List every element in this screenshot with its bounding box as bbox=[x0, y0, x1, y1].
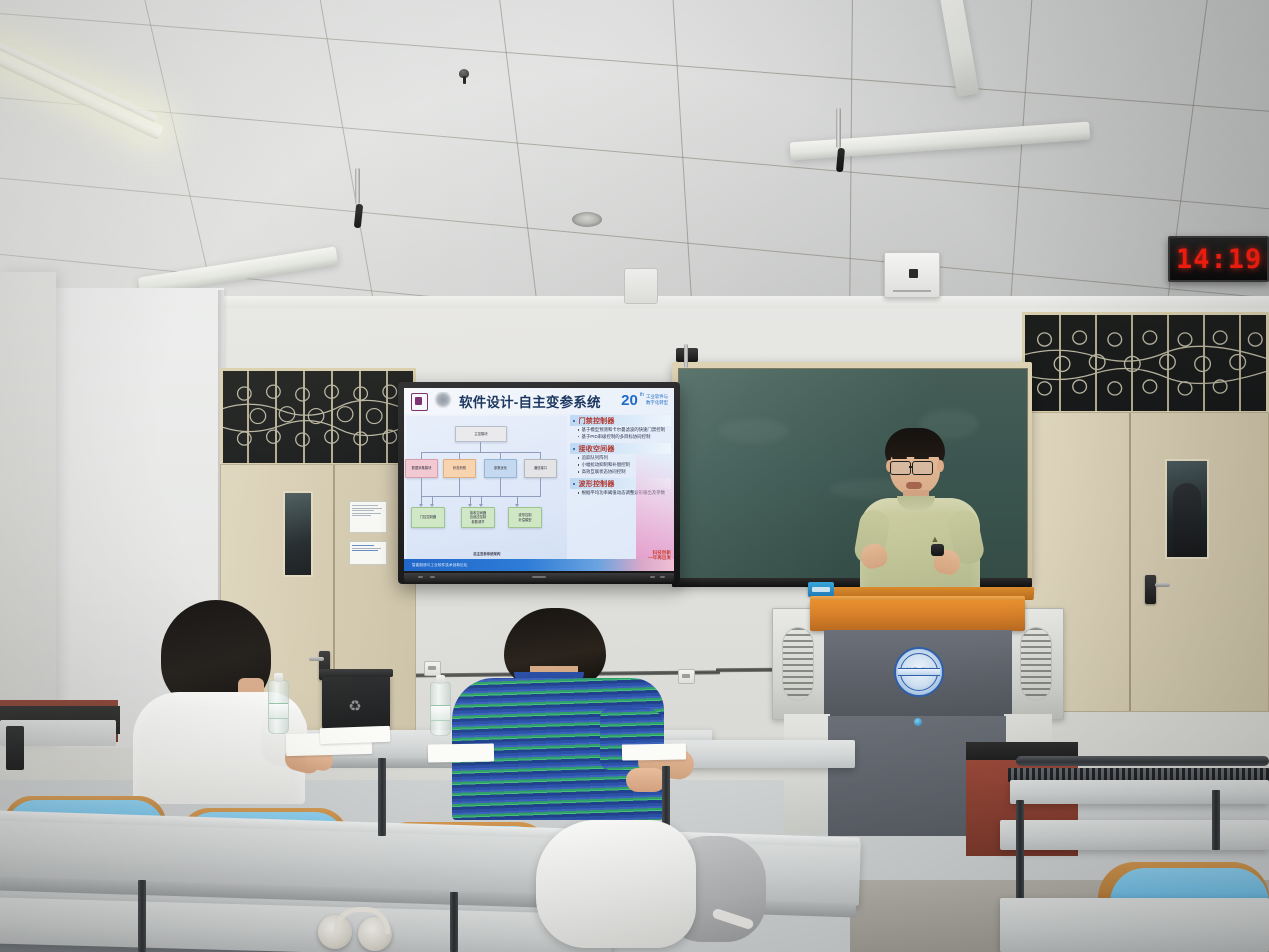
flowchart-caption: 自主变参系统架构 bbox=[407, 551, 567, 556]
institution-logo-b-icon bbox=[434, 392, 452, 409]
bottle-label-icon-2 bbox=[431, 705, 450, 721]
water-bottle-2 bbox=[430, 682, 451, 736]
slide-section-heading-1-text: 门禁控制器 bbox=[579, 416, 615, 426]
camera-mount-pole-2 bbox=[836, 108, 841, 148]
presenter-mouth bbox=[906, 482, 922, 489]
paper-sheet-2 bbox=[320, 726, 391, 744]
slide-section-heading-2: 接收空间器 bbox=[570, 443, 671, 454]
presenter-hair-front bbox=[887, 436, 943, 457]
flowchart-node-r2-2: 状态判别 bbox=[443, 459, 476, 478]
flowchart-node-r2-4: 通信接口 bbox=[524, 459, 557, 478]
speaker-grille-icon-2 bbox=[1020, 627, 1052, 701]
slide-bullets-panel: 门禁控制器 基于模型预测和卡尔曼滤波的快速门禁控制 基于PID串级控制的多目标协… bbox=[568, 414, 674, 559]
presentation-display[interactable]: 软件设计-自主变参系统 20 th 工业软件与 数字化转型 主控模块 bbox=[398, 382, 680, 584]
camera-mount-pole bbox=[355, 168, 360, 204]
desk-leg-front-2 bbox=[450, 892, 458, 952]
wifi-label-strip bbox=[893, 290, 931, 292]
wifi-access-point-icon bbox=[884, 252, 940, 298]
slide-footer-text: 智能制造与工业软件技术创新论坛 bbox=[412, 563, 467, 568]
podium-latch-icon[interactable] bbox=[914, 718, 922, 726]
fire-sprinkler-icon bbox=[459, 69, 469, 78]
flowchart-node-top: 主控模块 bbox=[455, 426, 507, 442]
desk-right-lower bbox=[1000, 820, 1269, 850]
slide-bullet: 基于PID串级控制的多目标协同控制 bbox=[578, 434, 671, 440]
wrought-iron-scroll-icon bbox=[223, 371, 413, 463]
wifi-led-icon bbox=[909, 269, 918, 278]
slide-bullet: 根据平均功率阈值动态调整波形输出及参数 bbox=[578, 490, 671, 496]
flowchart-node-r2-3: 参数优化 bbox=[484, 459, 517, 478]
slide-header: 软件设计-自主变参系统 20 th 工业软件与 数字化转型 bbox=[404, 388, 674, 414]
recycle-icon: ♻ bbox=[346, 694, 364, 720]
anniversary-number: 20 bbox=[621, 393, 638, 408]
slide-bullet: 小幅扰动抑制和补偿控制 bbox=[578, 462, 671, 468]
anniversary-badge: 20 th 工业软件与 数字化转型 bbox=[621, 390, 668, 410]
classroom-scene: 14:19:3 bbox=[0, 0, 1269, 952]
slide-section-items-3: 根据平均功率阈值动态调整波形输出及参数 bbox=[578, 490, 671, 496]
wall-junction-box bbox=[624, 268, 658, 304]
anniversary-suffix: th bbox=[640, 392, 644, 398]
desk-leg-back-1 bbox=[378, 758, 386, 836]
slide-bullet: 基于模型预测和卡尔曼滤波的快速门禁控制 bbox=[578, 427, 671, 433]
headphone-band-icon bbox=[334, 907, 390, 934]
door-right-viewport bbox=[1165, 459, 1209, 559]
slide-bullet: 高效互联状态协同控制 bbox=[578, 469, 671, 475]
presenter-ear-right bbox=[937, 460, 944, 472]
podium-base-left bbox=[784, 714, 830, 834]
desk-leg-front-1 bbox=[138, 880, 146, 952]
slide-section-heading-3: 波形控制器 bbox=[570, 478, 671, 489]
cable-trunking-2 bbox=[716, 668, 778, 672]
wall-upper-band bbox=[200, 296, 1269, 308]
headphones bbox=[318, 905, 394, 952]
wall-outlet-1[interactable] bbox=[424, 661, 441, 676]
slide-flowchart-panel: 主控模块 数据采集模块 状态判别 参数优化 通信接口 bbox=[407, 416, 567, 559]
slide-section-heading-1: 门禁控制器 bbox=[570, 415, 671, 426]
ceiling-speaker-icon bbox=[572, 212, 602, 227]
glasses-bridge-icon bbox=[909, 466, 913, 468]
desk-right-front bbox=[1000, 898, 1269, 952]
slide-section-heading-3-text: 波形控制器 bbox=[579, 479, 615, 489]
podium-blue-tag bbox=[808, 582, 834, 597]
desk-handrail-right bbox=[1016, 756, 1269, 766]
water-bottle-1 bbox=[268, 680, 289, 734]
left-wall-panel bbox=[0, 272, 56, 742]
door-left-viewport bbox=[283, 491, 313, 577]
flowchart-node-r3-3: 波形控制 补偿模型 bbox=[508, 507, 542, 528]
paper-sheet-4 bbox=[622, 743, 686, 760]
bottle-label-icon bbox=[269, 703, 288, 719]
institution-logo-a-icon bbox=[411, 393, 428, 411]
desk-leg-right-2 bbox=[1212, 790, 1220, 850]
trash-bin-rim bbox=[319, 669, 393, 677]
presenter-eyebrow-right bbox=[914, 457, 929, 459]
door-notice-1 bbox=[349, 501, 387, 533]
screen-mount-bracket bbox=[684, 344, 688, 368]
display-bezel-bottom bbox=[404, 573, 674, 582]
clock-time: 14:19:3 bbox=[1176, 244, 1269, 275]
speaker-grille-icon bbox=[782, 627, 814, 701]
anniversary-text: 工业软件与 数字化转型 bbox=[646, 394, 668, 406]
trash-bin: ♻ bbox=[322, 674, 390, 730]
door-left-handle-icon[interactable] bbox=[309, 657, 324, 661]
podium-wood-top[interactable] bbox=[810, 600, 1025, 631]
student-striped-polo bbox=[452, 608, 682, 818]
presenter-eyebrow-left bbox=[892, 457, 907, 459]
door-right-handle-icon[interactable] bbox=[1155, 583, 1170, 587]
paper-sheet-3 bbox=[428, 743, 494, 762]
slide-body: 主控模块 数据采集模块 状态判别 参数优化 通信接口 bbox=[404, 414, 674, 559]
presenter-wristwatch-icon bbox=[931, 544, 944, 556]
flowchart-node-r3-1: 门控控制器 bbox=[411, 507, 445, 528]
slide-bullet: 追踪队列阵列 bbox=[578, 455, 671, 461]
wrought-iron-scroll-icon-2 bbox=[1025, 315, 1266, 411]
slide-footer: 智能制造与工业软件技术创新论坛 科技创新 一年再出发 bbox=[404, 559, 674, 571]
slide-section-items-1: 基于模型预测和卡尔曼滤波的快速门禁控制 基于PID串级控制的多目标协同控制 bbox=[578, 427, 671, 440]
slide-screen: 软件设计-自主变参系统 20 th 工业软件与 数字化转型 主控模块 bbox=[404, 388, 674, 571]
door-notice-2 bbox=[349, 541, 387, 565]
digital-wall-clock: 14:19:3 bbox=[1168, 236, 1269, 282]
flowchart-node-r3-2: 接收空间器 自适应控制 参数调节 bbox=[461, 507, 495, 528]
glasses-lens-right-icon bbox=[912, 461, 933, 475]
university-seal-band bbox=[898, 668, 940, 676]
glasses-lens-left-icon bbox=[890, 461, 911, 475]
slide: 软件设计-自主变参系统 20 th 工业软件与 数字化转型 主控模块 bbox=[404, 388, 674, 571]
bag-on-desk bbox=[536, 812, 766, 952]
slide-section-items-2: 追踪队列阵列 小幅扰动抑制和补偿控制 高效互联状态协同控制 bbox=[578, 455, 671, 475]
slide-footer-logo: 科技创新 一年再出发 bbox=[648, 550, 671, 560]
slide-title: 软件设计-自主变参系统 bbox=[459, 391, 601, 411]
flowchart-node-r2-1: 数据采集模块 bbox=[405, 459, 438, 478]
presenter-person: ▲ bbox=[855, 428, 985, 593]
student-2-hand bbox=[626, 768, 666, 792]
door-right-transom bbox=[1022, 312, 1269, 414]
slide-section-heading-2-text: 接收空间器 bbox=[579, 444, 615, 454]
door-left-transom bbox=[220, 368, 416, 466]
desk-right-upper bbox=[1010, 780, 1269, 804]
door-right-lock-icon[interactable] bbox=[1145, 575, 1156, 604]
bag-white-part bbox=[536, 820, 696, 948]
monitor-far-left bbox=[6, 726, 24, 770]
